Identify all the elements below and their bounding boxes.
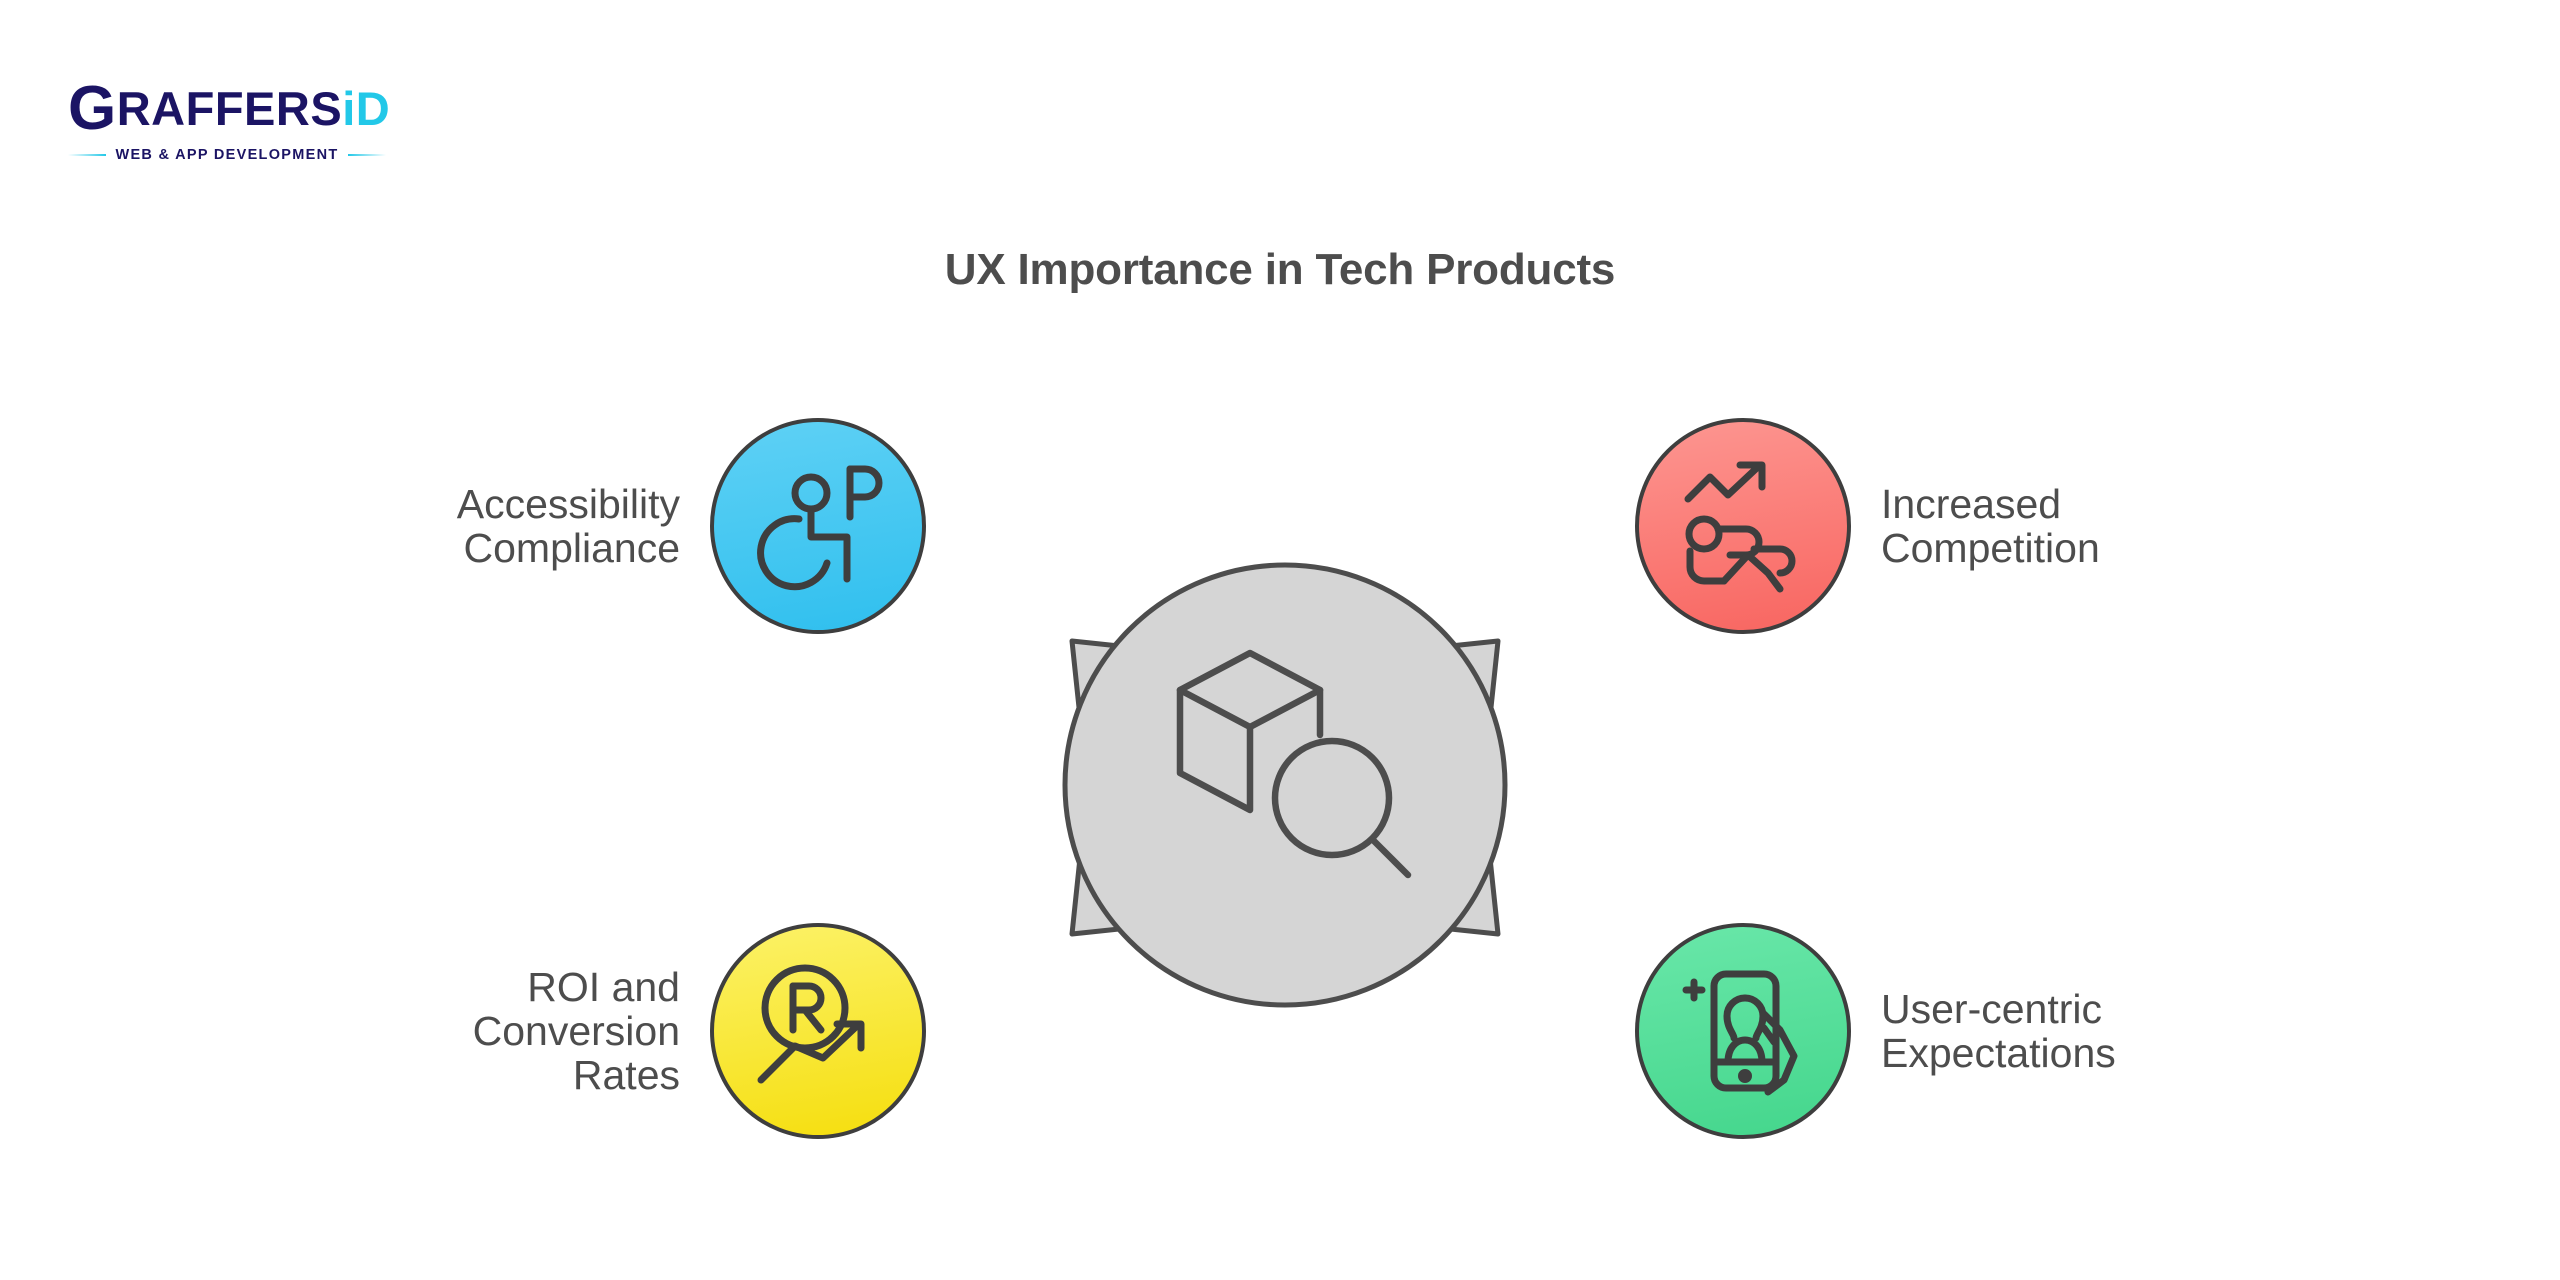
node-usercentric[interactable]: User-centric Expectations (1635, 923, 2271, 1139)
node-roi-bubble[interactable] (710, 923, 926, 1139)
node-usercentric-bubble[interactable] (1635, 923, 1851, 1139)
node-competition-label: Increased Competition (1851, 482, 2271, 571)
infographic-page: GRAFFERSiD WEB & APP DEVELOPMENT UX Impo… (0, 0, 2560, 1280)
node-accessibility-bubble[interactable] (710, 418, 926, 634)
node-roi-label: ROI and Conversion Rates (290, 965, 710, 1098)
node-roi[interactable]: ROI and Conversion Rates (290, 923, 926, 1139)
hub-circle (1065, 565, 1505, 1005)
node-competition-bubble[interactable] (1635, 418, 1851, 634)
node-competition[interactable]: Increased Competition (1635, 418, 2271, 634)
mobile-user-touch-icon (1668, 956, 1818, 1106)
center-hub-graphic (980, 545, 1590, 1025)
center-hub (980, 545, 1590, 1025)
hub-and-spoke-diagram: Accessibility Compliance (0, 0, 2560, 1280)
node-usercentric-label: User-centric Expectations (1851, 987, 2271, 1076)
registered-r-growth-arrow-icon (743, 956, 893, 1106)
node-accessibility[interactable]: Accessibility Compliance (290, 418, 926, 634)
running-person-growth-arrow-icon (1668, 451, 1818, 601)
wheelchair-accessibility-icon (743, 451, 893, 601)
node-accessibility-label: Accessibility Compliance (290, 482, 710, 571)
